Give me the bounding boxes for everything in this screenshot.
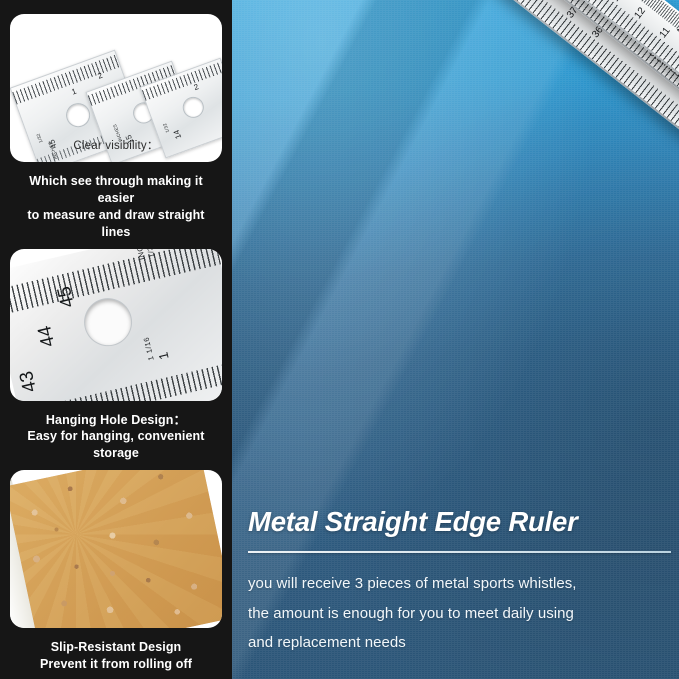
- cork-backing-surface: [10, 470, 222, 628]
- hanging-hole-macro: [80, 294, 135, 349]
- ruler-number: 45: [54, 284, 80, 310]
- body-line-1: you will receive 3 pieces of metal sport…: [248, 569, 671, 598]
- clear-visibility-inline-label: Clear visibility：: [10, 137, 222, 153]
- feature-sidebar: 45 1 2 1/32 INCHES 15 2 INCHES: [0, 0, 232, 679]
- thumbnail-clear-visibility: 45 1 2 1/32 INCHES 15 2 INCHES: [10, 14, 222, 162]
- ruler-number: 2: [193, 82, 200, 92]
- hero-text-block: Metal Straight Edge Ruler you will recei…: [248, 506, 671, 657]
- feature-block-slip-resistant: Slip-Resistant Design Prevent it from ro…: [10, 470, 222, 673]
- title-divider: [248, 551, 671, 553]
- ruler-macro-surface: 45 44 43 42 1/32 INCHES 1 1 1/16: [10, 249, 222, 401]
- caption-line-2: Easy for hanging, convenient storage: [12, 428, 220, 462]
- ruler-inch-number: 1: [155, 350, 171, 361]
- caption-line-1: Hanging Hole Design：: [12, 412, 220, 429]
- body-line-3: and replacement needs: [248, 628, 671, 657]
- ruler-number: 43: [16, 368, 42, 394]
- caption-clear-visibility: Which see through making it easier to me…: [10, 162, 222, 241]
- caption-hanging-hole: Hanging Hole Design： Easy for hanging, c…: [10, 401, 222, 463]
- caption-slip-resistant: Slip-Resistant Design Prevent it from ro…: [10, 628, 222, 673]
- scale-label-fraction: 1/32: [162, 122, 170, 133]
- thumbnail-hanging-hole: 45 44 43 42 1/32 INCHES 1 1 1/16: [10, 249, 222, 401]
- hero-panel: 45 44 43 42 41 40 39 38 37 36 NB24R-1B 1…: [232, 0, 679, 679]
- feature-block-hanging-hole: 45 44 43 42 1/32 INCHES 1 1 1/16 Hanging…: [10, 249, 222, 463]
- ruler-number: 44: [34, 323, 60, 349]
- hanging-hole-c: [180, 94, 207, 121]
- product-listing-image: 45 1 2 1/32 INCHES 15 2 INCHES: [0, 0, 679, 679]
- caption-line-1: Slip-Resistant Design: [12, 639, 220, 656]
- feature-block-clear-visibility: 45 1 2 1/32 INCHES 15 2 INCHES: [10, 14, 222, 241]
- thumbnail-slip-resistant: [10, 470, 222, 628]
- scale-label-fraction-detail: 1 1/16: [142, 336, 156, 361]
- caption-line-1: Which see through making it easier: [12, 173, 220, 207]
- page-title: Metal Straight Edge Ruler: [248, 506, 671, 538]
- caption-line-2: Prevent it from rolling off: [12, 656, 220, 673]
- ruler-number: 1: [70, 87, 77, 97]
- body-line-2: the amount is enough for you to meet dai…: [248, 599, 671, 628]
- caption-line-2: to measure and draw straight lines: [12, 207, 220, 241]
- hanging-hole-a: [63, 100, 94, 131]
